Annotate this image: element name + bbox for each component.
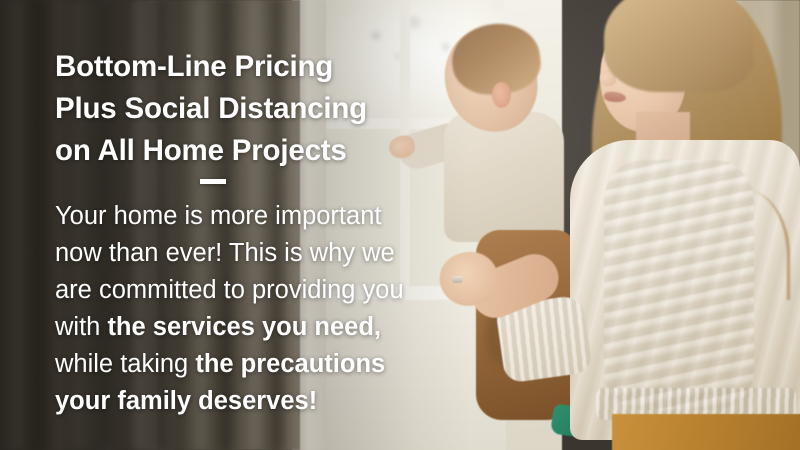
headline-line-1: Bottom-Line Pricing (55, 46, 475, 88)
body-emphasis: your family deserves! (55, 387, 317, 415)
promo-banner: Bottom-Line Pricing Plus Social Distanci… (0, 0, 800, 450)
headline-block: Bottom-Line Pricing Plus Social Distanci… (55, 46, 475, 172)
divider-rule (200, 179, 226, 184)
body-text: with (55, 313, 107, 341)
text-overlay: Bottom-Line Pricing Plus Social Distanci… (55, 0, 475, 450)
body-text: Your home is more important (55, 202, 381, 230)
curtain-highlight (8, 0, 30, 450)
body-text: now than ever! This is why we (55, 239, 395, 267)
body-line-2: now than ever! This is why we (55, 235, 475, 272)
headline-line-2: Plus Social Distancing (55, 88, 475, 130)
curtain-pleat (28, 0, 54, 450)
body-line-5: while taking the precautions (55, 346, 475, 383)
body-emphasis: the services you need, (107, 313, 381, 341)
body-line-6: your family deserves! (55, 383, 475, 420)
body-line-1: Your home is more important (55, 198, 475, 235)
woman-hair-top (604, 0, 754, 92)
body-line-3: are committed to providing you (55, 272, 475, 309)
body-text: are committed to providing you (55, 276, 404, 304)
baby-ear (492, 82, 511, 108)
woman-skirt (612, 414, 800, 450)
body-copy: Your home is more importantnow than ever… (55, 198, 475, 420)
body-text: while taking (55, 350, 195, 378)
headline-line-3: on All Home Projects (55, 130, 475, 172)
body-emphasis: the precautions (195, 350, 385, 378)
body-line-4: with the services you need, (55, 309, 475, 346)
